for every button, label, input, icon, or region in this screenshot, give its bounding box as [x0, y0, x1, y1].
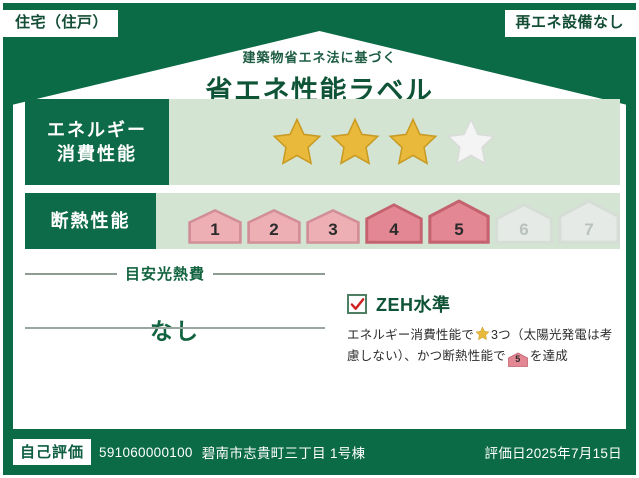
zeh-desc-part1: エネルギー消費性能で [347, 328, 474, 342]
insulation-level-value: 2 [269, 220, 278, 244]
insulation-level-6: 6 [495, 202, 553, 244]
star-empty-icon [445, 116, 497, 168]
energy-performance-row: エネルギー 消費性能 [25, 99, 620, 185]
zeh-checkbox[interactable] [347, 294, 367, 314]
insulation-performance-label: 断熱性能 [25, 193, 156, 249]
utility-cost-value: なし [25, 312, 325, 346]
building-type-badge: 住宅（住戸） [3, 10, 118, 37]
zeh-desc-badge-value: 5 [515, 352, 520, 368]
star-icon [475, 326, 490, 341]
insulation-level-scale: 1234567 [156, 198, 620, 244]
zeh-description: エネルギー消費性能で3つ（太陽光発電は考慮しない）、かつ断熱性能で5を達成 [347, 325, 619, 367]
insulation-badge-icon: 5 [508, 352, 528, 367]
insulation-level-value: 3 [328, 220, 337, 244]
zeh-heading: ZEH水準 [347, 291, 619, 317]
insulation-label-text: 断熱性能 [51, 209, 131, 233]
insulation-level-value: 4 [389, 220, 398, 244]
zeh-title: ZEH水準 [376, 291, 451, 317]
utility-cost-block: 目安光熱費 なし [25, 263, 325, 346]
insulation-level-7: 7 [558, 198, 620, 244]
insulation-level-1: 1 [188, 208, 242, 244]
insulation-level-value: 6 [519, 220, 528, 244]
star-filled-icon [387, 116, 439, 168]
energy-performance-label: エネルギー 消費性能 [25, 99, 169, 185]
insulation-level-value: 5 [454, 220, 463, 244]
zeh-block: ZEH水準 エネルギー消費性能で3つ（太陽光発電は考慮しない）、かつ断熱性能で5… [347, 291, 619, 367]
insulation-performance-value: 1234567 [156, 193, 620, 249]
insulation-level-4: 4 [365, 202, 423, 244]
zeh-desc-part3: を達成 [530, 349, 568, 363]
utility-cost-bottom-rule [25, 327, 325, 329]
energy-performance-label: 住宅（住戸） 再エネ設備なし 建築物省エネ法に基づく 省エネ性能ラベル エネルギ… [0, 0, 639, 478]
renewable-equipment-badge: 再エネ設備なし [505, 10, 636, 37]
insulation-level-2: 2 [247, 208, 301, 244]
check-icon [350, 297, 365, 312]
heading-rule-right [213, 273, 325, 275]
star-filled-icon [271, 116, 323, 168]
star-rating [169, 116, 497, 168]
insulation-level-value: 1 [210, 220, 219, 244]
self-evaluation-badge: 自己評価 [13, 439, 91, 465]
insulation-level-value: 7 [584, 220, 593, 244]
property-address: 碧南市志貴町三丁目 1号棟 [202, 442, 366, 462]
energy-label-line1: エネルギー [47, 118, 147, 142]
energy-performance-value [169, 99, 620, 185]
performance-card: エネルギー 消費性能 断熱性能 1234567 目安光熱費 なし [25, 99, 620, 409]
insulation-performance-row: 断熱性能 1234567 [25, 193, 620, 249]
energy-label-line2: 消費性能 [57, 142, 137, 166]
heading-rule-left [25, 273, 117, 275]
utility-cost-heading: 目安光熱費 [25, 263, 325, 284]
utility-cost-heading-text: 目安光熱費 [125, 263, 205, 284]
evaluation-date: 評価日2025年7月15日 [485, 442, 626, 462]
footer: 自己評価 591060000100 碧南市志貴町三丁目 1号棟 評価日2025年… [13, 437, 626, 467]
star-filled-icon [329, 116, 381, 168]
property-id: 591060000100 [99, 445, 193, 460]
insulation-level-3: 3 [306, 208, 360, 244]
insulation-level-5: 5 [428, 198, 490, 244]
